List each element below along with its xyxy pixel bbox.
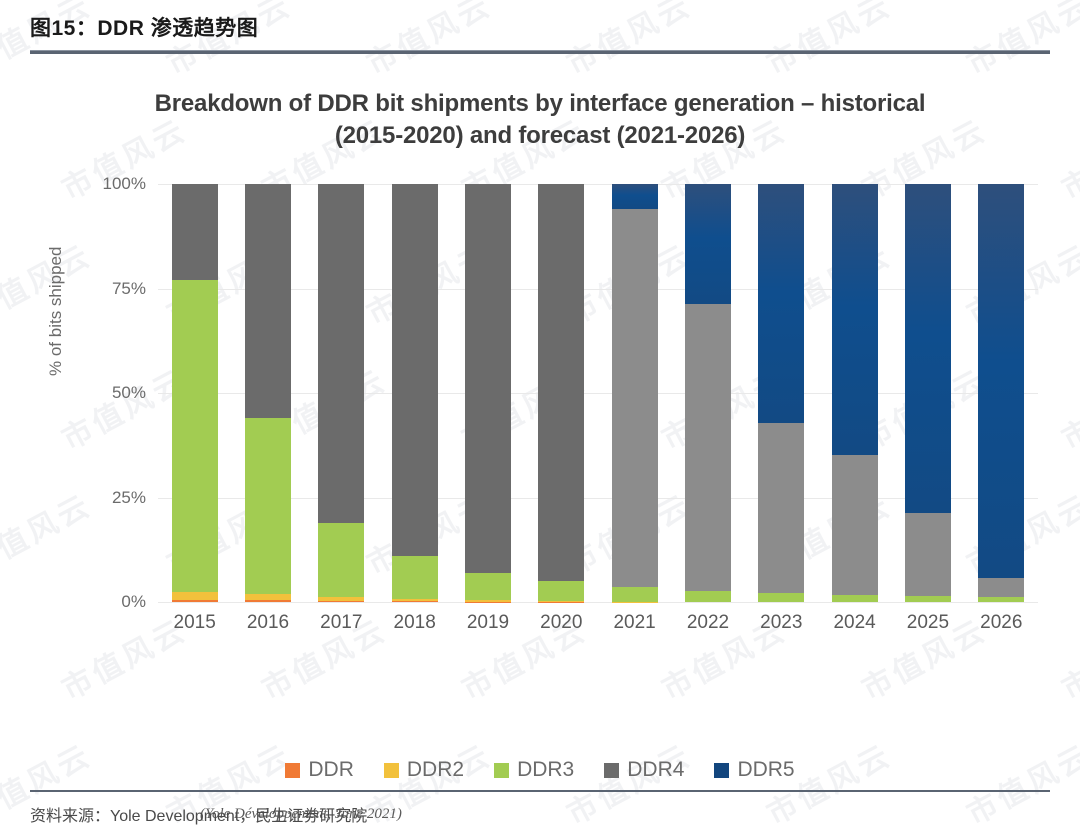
- legend-label-ddr3: DDR3: [517, 758, 574, 782]
- plot-area: [158, 184, 1038, 602]
- stacked-bar-2022[interactable]: [685, 184, 731, 602]
- x-axis-tick-2021: 2021: [598, 612, 671, 634]
- bar-segment-ddr4-2025: [905, 513, 951, 596]
- bar-segment-ddr2-2015: [172, 592, 218, 600]
- legend-item-ddr2[interactable]: DDR2: [384, 758, 464, 782]
- bar-segment-ddr3-2026: [978, 597, 1024, 602]
- x-axis-tick-2025: 2025: [891, 612, 964, 634]
- bar-column-2026[interactable]: [965, 184, 1038, 602]
- x-axis-tick-2017: 2017: [305, 612, 378, 634]
- bar-segment-ddr4-2023: [758, 423, 804, 593]
- legend-label-ddr2: DDR2: [407, 758, 464, 782]
- bar-segment-ddr-2017: [318, 601, 364, 602]
- bar-column-2020[interactable]: [525, 184, 598, 602]
- header-divider: [30, 50, 1050, 54]
- bar-segment-ddr3-2022: [685, 591, 731, 602]
- bar-segment-ddr-2015: [172, 600, 218, 602]
- x-axis-tick-2022: 2022: [671, 612, 744, 634]
- bar-segment-ddr4-2024: [832, 455, 878, 595]
- legend-swatch-ddr4: [604, 763, 619, 778]
- stacked-bar-2020[interactable]: [538, 184, 584, 602]
- bar-column-2024[interactable]: [818, 184, 891, 602]
- y-axis-ticks: 0%25%50%75%100%: [80, 166, 152, 604]
- chart-title-line-1: Breakdown of DDR bit shipments by interf…: [90, 88, 990, 120]
- bar-segment-ddr3-2021: [612, 587, 658, 601]
- stacked-bar-2021[interactable]: [612, 184, 658, 602]
- bar-column-2016[interactable]: [231, 184, 304, 602]
- bar-segment-ddr3-2023: [758, 593, 804, 602]
- bar-segment-ddr3-2020: [538, 581, 584, 601]
- legend-swatch-ddr2: [384, 763, 399, 778]
- x-axis-tick-2018: 2018: [378, 612, 451, 634]
- legend-item-ddr5[interactable]: DDR5: [714, 758, 794, 782]
- bar-segment-ddr4-2015: [172, 184, 218, 280]
- x-axis-tick-2016: 2016: [231, 612, 304, 634]
- legend-swatch-ddr: [285, 763, 300, 778]
- watermark: 市值风云: [1053, 356, 1080, 459]
- stacked-bar-2017[interactable]: [318, 184, 364, 602]
- bar-segment-ddr4-2018: [392, 184, 438, 556]
- stacked-bar-2016[interactable]: [245, 184, 291, 602]
- watermark: 市值风云: [1053, 606, 1080, 709]
- chart-title-line-2: (2015-2020) and forecast (2021-2026): [90, 120, 990, 152]
- source-text: 资料来源：Yole Development，民生证券研究院: [30, 802, 1050, 826]
- x-axis-tick-2024: 2024: [818, 612, 891, 634]
- plot-wrapper: % of bits shipped 0%25%50%75%100% 201520…: [30, 166, 1050, 646]
- y-axis-label: % of bits shipped: [46, 247, 66, 376]
- x-axis-tick-2019: 2019: [451, 612, 524, 634]
- bar-segment-ddr-2016: [245, 600, 291, 602]
- y-axis-tick-0: 0%: [121, 592, 146, 612]
- y-axis-tick-50: 50%: [112, 383, 146, 403]
- legend-label-ddr4: DDR4: [627, 758, 684, 782]
- bar-segment-ddr5-2026: [978, 184, 1024, 578]
- bar-segment-ddr-2018: [392, 601, 438, 602]
- watermark: 市值风云: [1053, 106, 1080, 209]
- x-axis-tick-2020: 2020: [525, 612, 598, 634]
- x-axis-ticks: 2015201620172018201920202021202220232024…: [158, 612, 1038, 634]
- stacked-bar-2025[interactable]: [905, 184, 951, 602]
- bar-column-2023[interactable]: [745, 184, 818, 602]
- figure-footer: 资料来源：Yole Development，民生证券研究院: [30, 790, 1050, 826]
- bar-column-2018[interactable]: [378, 184, 451, 602]
- legend-swatch-ddr5: [714, 763, 729, 778]
- stacked-bar-2019[interactable]: [465, 184, 511, 602]
- legend-label-ddr: DDR: [308, 758, 354, 782]
- bar-segment-ddr4-2022: [685, 304, 731, 591]
- bar-segment-ddr3-2017: [318, 523, 364, 597]
- bar-segment-ddr4-2026: [978, 578, 1024, 597]
- bar-segment-ddr3-2019: [465, 573, 511, 601]
- bar-segment-ddr4-2019: [465, 184, 511, 573]
- bar-segment-ddr5-2022: [685, 184, 731, 304]
- legend-item-ddr[interactable]: DDR: [285, 758, 354, 782]
- stacked-bar-2024[interactable]: [832, 184, 878, 602]
- bar-segment-ddr3-2025: [905, 596, 951, 602]
- figure-title: 图15：DDR 渗透趋势图: [30, 12, 1050, 50]
- bar-segment-ddr3-2015: [172, 280, 218, 591]
- stacked-bar-2015[interactable]: [172, 184, 218, 602]
- legend-swatch-ddr3: [494, 763, 509, 778]
- bar-segment-ddr4-2016: [245, 184, 291, 418]
- bar-segment-ddr3-2024: [832, 595, 878, 602]
- bar-column-2017[interactable]: [305, 184, 378, 602]
- stacked-bar-2026[interactable]: [978, 184, 1024, 602]
- chart-title: Breakdown of DDR bit shipments by interf…: [30, 66, 1050, 151]
- bar-segment-ddr5-2025: [905, 184, 951, 513]
- bar-segment-ddr4-2020: [538, 184, 584, 581]
- legend-item-ddr4[interactable]: DDR4: [604, 758, 684, 782]
- bar-segment-ddr3-2018: [392, 556, 438, 599]
- bar-segment-ddr4-2021: [612, 209, 658, 587]
- bar-column-2022[interactable]: [671, 184, 744, 602]
- chart-card: Breakdown of DDR bit shipments by interf…: [30, 66, 1050, 766]
- bar-column-2025[interactable]: [891, 184, 964, 602]
- bar-column-2019[interactable]: [451, 184, 524, 602]
- gridline-0: [158, 602, 1038, 603]
- y-axis-tick-25: 25%: [112, 488, 146, 508]
- bar-column-2021[interactable]: [598, 184, 671, 602]
- x-axis-tick-2023: 2023: [745, 612, 818, 634]
- bar-series-container: [158, 184, 1038, 602]
- x-axis-tick-2015: 2015: [158, 612, 231, 634]
- chart-legend: DDRDDR2DDR3DDR4DDR5: [30, 758, 1050, 782]
- bar-column-2015[interactable]: [158, 184, 231, 602]
- bar-segment-ddr5-2023: [758, 184, 804, 423]
- x-axis-tick-2026: 2026: [965, 612, 1038, 634]
- y-axis-tick-100: 100%: [103, 174, 146, 194]
- bar-segment-ddr4-2017: [318, 184, 364, 523]
- bar-segment-ddr5-2024: [832, 184, 878, 455]
- figure-header: 图15：DDR 渗透趋势图: [30, 12, 1050, 54]
- footer-divider: [30, 790, 1050, 792]
- legend-label-ddr5: DDR5: [737, 758, 794, 782]
- y-axis-tick-75: 75%: [112, 279, 146, 299]
- stacked-bar-2023[interactable]: [758, 184, 804, 602]
- bar-segment-ddr5-2021: [612, 184, 658, 209]
- bar-segment-ddr3-2016: [245, 418, 291, 594]
- legend-item-ddr3[interactable]: DDR3: [494, 758, 574, 782]
- stacked-bar-2018[interactable]: [392, 184, 438, 602]
